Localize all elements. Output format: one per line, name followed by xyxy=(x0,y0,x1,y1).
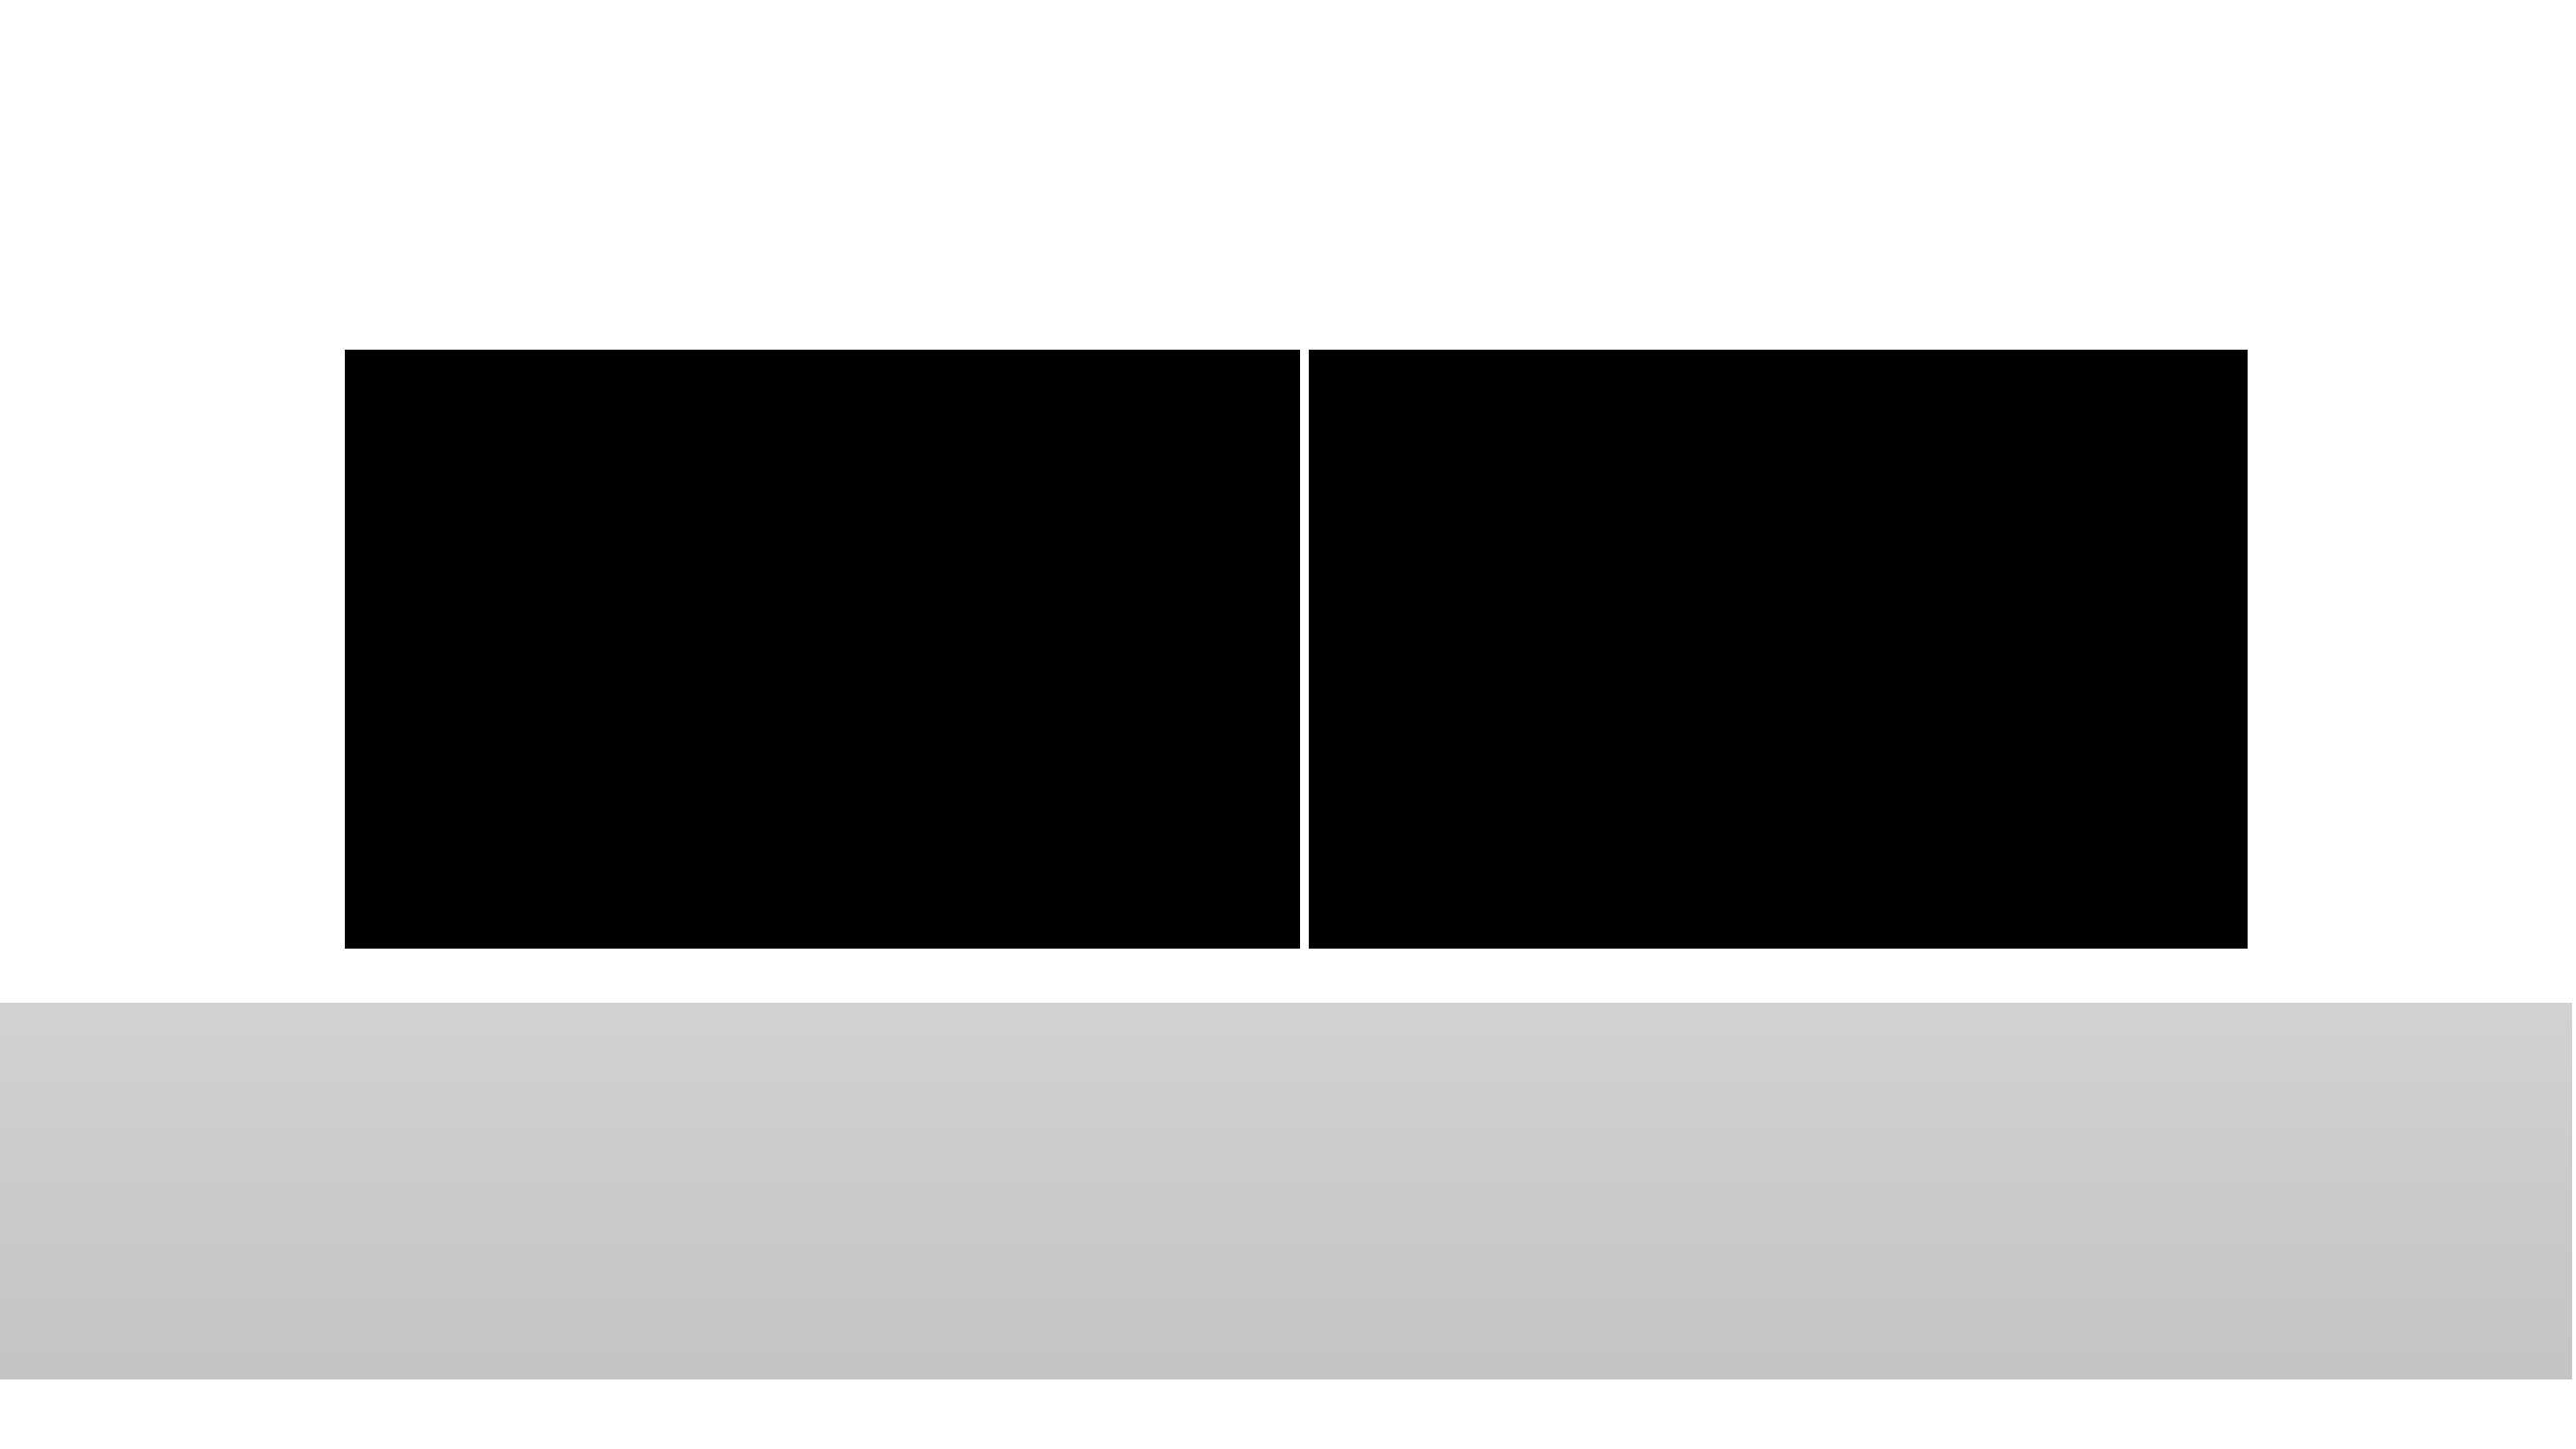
root-profile-photo-1999 xyxy=(1309,350,2248,949)
explanation-text-block xyxy=(0,1003,2572,1379)
root-profile-photo-1998 xyxy=(345,350,1300,949)
